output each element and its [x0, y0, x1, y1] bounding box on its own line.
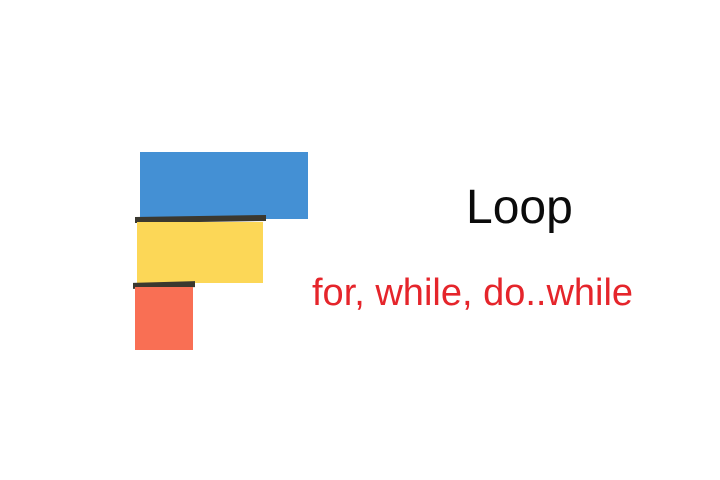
page-title: Loop [466, 184, 573, 232]
red-block-face [135, 287, 193, 350]
slide-canvas: Loop for, while, do..while [0, 0, 720, 480]
yellow-block-face [137, 222, 263, 283]
yellow-block [137, 222, 263, 283]
blue-block-face [140, 152, 308, 219]
page-subtitle: for, while, do..while [312, 274, 633, 312]
blue-block [140, 152, 308, 219]
stacked-steps-graphic [0, 0, 360, 480]
red-block [135, 287, 193, 350]
